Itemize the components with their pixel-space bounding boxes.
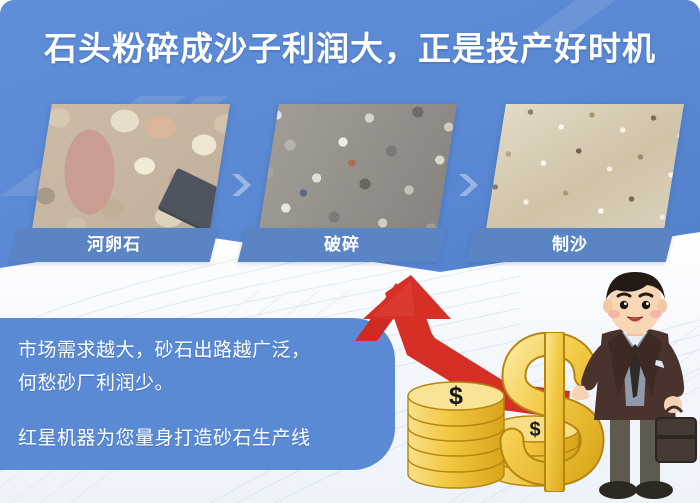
process-label-2-text: 破碎 [242,228,442,262]
marketing-copy-panel: 市场需求越大，砂石出路越广泛， 何愁砂厂利润少。 红星机器为您量身打造砂石生产线 [0,318,395,470]
pebbles-photo [32,104,230,229]
process-label-3: 制沙 [466,228,674,262]
process-label-2: 破碎 [238,228,446,262]
process-label-3-text: 制沙 [470,228,670,262]
process-image-2 [259,104,457,229]
copy-line-1: 市场需求越大，砂石出路越广泛， [18,335,311,362]
copy-line-2: 何愁砂厂利润少。 [18,368,174,395]
process-image-1 [32,104,230,229]
svg-text:$: $ [449,382,463,410]
copy-line-3: 红星机器为您量身打造砂石生产线 [18,423,311,450]
process-image-3 [486,104,684,229]
chevron-right-icon [453,170,483,200]
promo-banner: 石头粉碎成沙子利润大，正是投产好时机 河卵石 破碎 制沙 市场需求越大，砂石出路… [0,0,700,503]
process-label-1: 河卵石 [10,228,218,262]
businessman-icon [572,272,700,503]
page-title: 石头粉碎成沙子利润大，正是投产好时机 [0,22,700,70]
chevron-right-icon [226,170,256,200]
process-label-1-text: 河卵石 [14,228,214,262]
sand-photo [486,104,684,229]
gravel-photo [259,104,457,229]
